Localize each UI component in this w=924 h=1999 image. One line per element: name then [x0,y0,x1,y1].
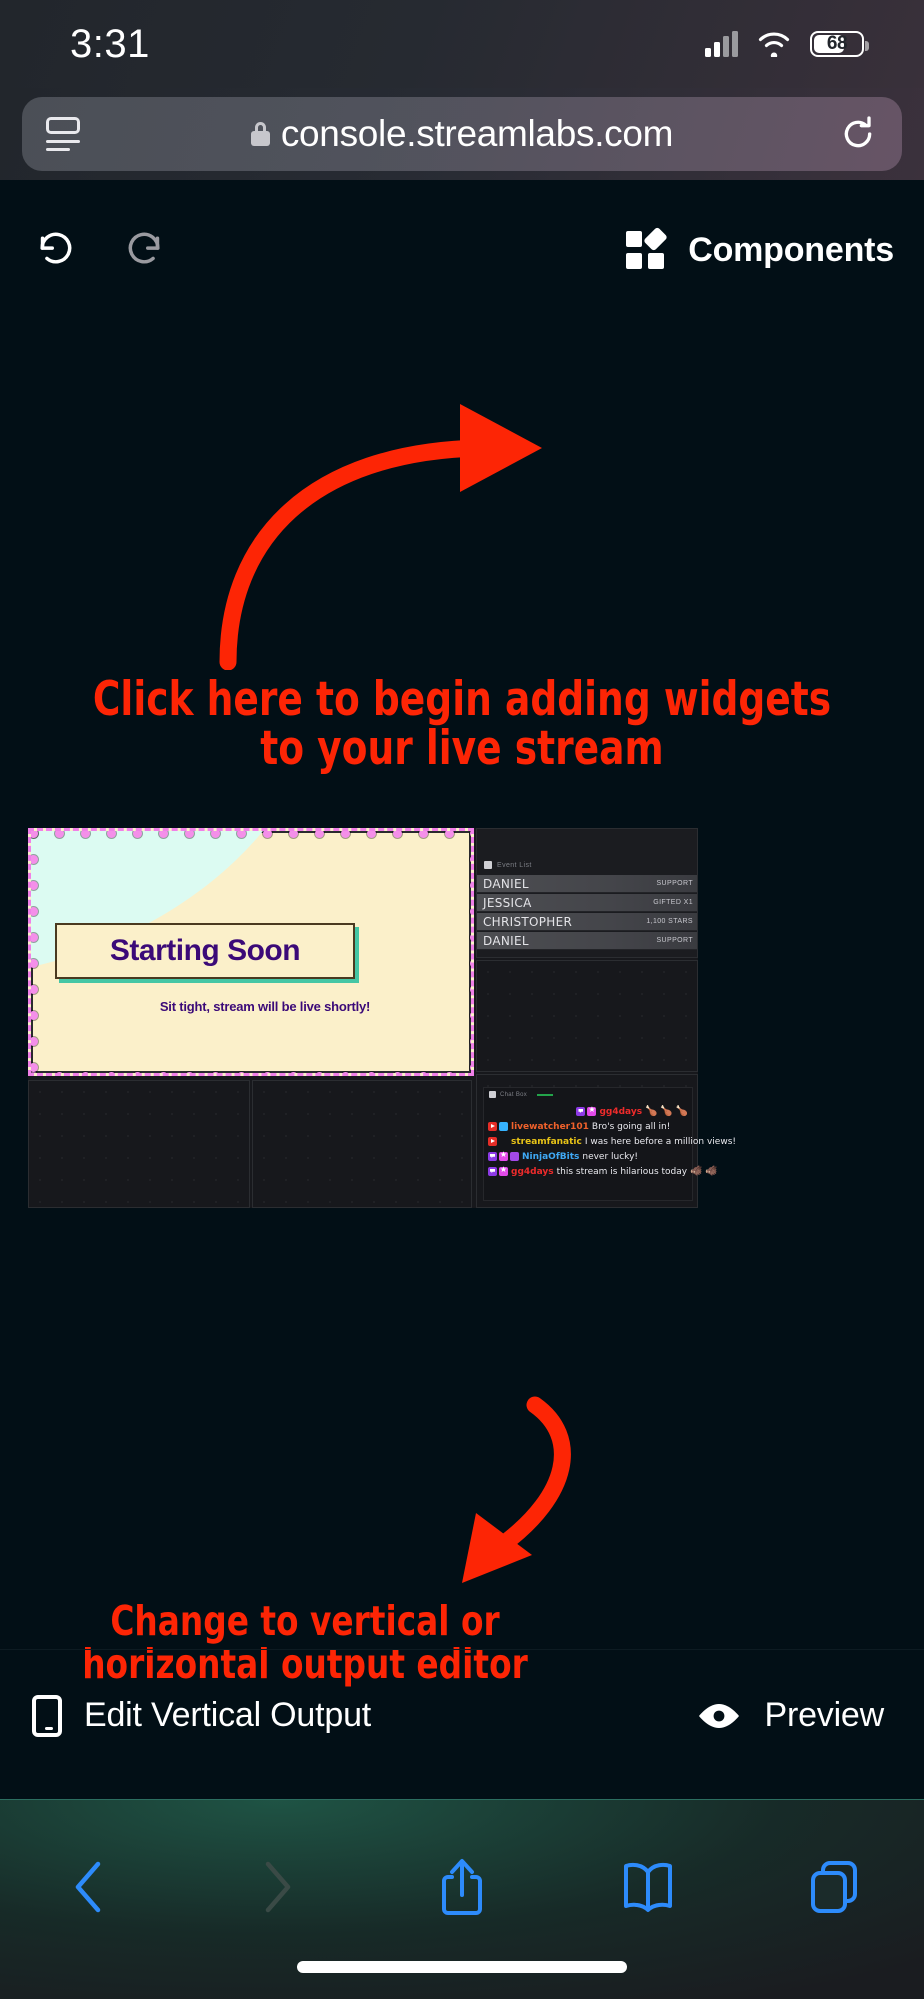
selection-handle[interactable] [237,1072,246,1076]
selection-handle[interactable] [29,1011,38,1020]
chat-username: gg4days [599,1107,642,1117]
selection-handle[interactable] [419,829,428,838]
chat-message-text: I was here before a million views! [585,1137,736,1147]
selection-handle[interactable] [470,1037,474,1046]
url-display[interactable]: console.streamlabs.com [86,113,838,155]
selection-handle[interactable] [81,1072,90,1076]
cellular-signal-icon [705,31,738,57]
event-list-caption: Event List [497,862,532,869]
selection-handle[interactable] [471,829,474,838]
undo-icon[interactable] [32,227,78,273]
selection-handle[interactable] [29,1063,38,1072]
edit-vertical-output-button[interactable]: Edit Vertical Output [32,1695,371,1737]
redo-icon[interactable] [122,227,168,273]
selection-handle[interactable] [263,829,272,838]
chat-badges [488,1122,508,1131]
selection-handle[interactable] [185,1072,194,1076]
bookmarks-icon[interactable] [616,1855,680,1919]
selection-handle[interactable] [470,907,474,916]
event-list-header: Event List [484,861,532,869]
chat-accent-line [537,1094,553,1096]
chat-badge-star [499,1152,508,1161]
chat-badge-twitch [488,1167,497,1176]
selection-handle[interactable] [419,1072,428,1076]
selection-handle[interactable] [367,1072,376,1076]
empty-scene-tile-left[interactable] [28,1080,250,1208]
streamlabs-editor-app: Components Click here to begin adding wi… [0,180,924,1799]
chat-badge-twitch [576,1107,585,1116]
selection-handle[interactable] [341,1072,350,1076]
history-buttons [32,227,168,273]
chat-username: livewatcher101 [511,1122,589,1132]
address-bar[interactable]: console.streamlabs.com [22,97,902,171]
empty-scene-tile-right[interactable] [476,960,698,1072]
chat-badge-youtube [488,1137,497,1146]
forward-chevron-icon [244,1855,308,1919]
chat-message-text: this stream is hilarious today [557,1167,688,1177]
chat-badge-youtube [488,1122,497,1131]
selection-handle[interactable] [133,1072,142,1076]
eye-icon [696,1701,742,1731]
chat-emotes: 🐗 🐗 [690,1166,718,1177]
chat-message: livewatcher101Bro's going all in! [488,1119,688,1134]
chat-box-caption: Chat Box [500,1092,527,1098]
editor-toolbar: Components [0,210,924,290]
event-list-widget[interactable]: Event List DANIELSUPPORTJESSICAGIFTED X1… [476,828,698,958]
status-bar-indicators: 68 [705,31,864,57]
event-list-row: CHRISTOPHER1,100 STARS [477,913,698,931]
event-list-row-name: DANIEL [483,877,529,891]
components-grid-icon [626,231,666,269]
share-icon[interactable] [430,1855,494,1919]
selection-handle[interactable] [470,855,474,864]
status-bar-clock: 3:31 [70,22,150,67]
event-list-row: JESSICAGIFTED X1 [477,894,698,912]
battery-level: 68 [812,33,862,55]
selection-handle[interactable] [341,829,350,838]
starting-soon-title: Starting Soon [110,934,300,968]
safari-bottom-toolbar [0,1799,924,1999]
battery-icon: 68 [810,31,864,57]
chat-username: NinjaOfBits [522,1152,579,1162]
selection-handle[interactable] [211,1072,220,1076]
ios-status-bar: 3:31 68 [0,0,924,88]
selection-handle[interactable] [470,959,474,968]
event-list-row-value: 1,100 STARS [646,918,693,925]
chat-box-widget[interactable]: Chat Box gg4days🍗 🍗 🍗livewatcher101Bro's… [476,1074,698,1208]
home-indicator [297,1961,627,1973]
event-list-row-name: JESSICA [483,896,532,910]
chat-message-text: never lucky! [582,1152,638,1162]
chat-box-header: Chat Box [489,1091,553,1098]
selection-handle[interactable] [55,1072,64,1076]
selection-handle[interactable] [470,1063,474,1072]
phone-icon [32,1695,62,1737]
selection-handle[interactable] [393,1072,402,1076]
event-list-row: DANIELSUPPORT [477,932,698,950]
components-button[interactable]: Components [626,231,894,270]
widget-icon [484,861,492,869]
starting-soon-box: Starting Soon [55,923,355,979]
url-text: console.streamlabs.com [281,113,673,155]
safari-top-toolbar: console.streamlabs.com [0,88,924,180]
selection-handle[interactable] [445,1072,454,1076]
chat-message: NinjaOfBitsnever lucky! [488,1149,688,1164]
chat-badges [488,1137,508,1146]
chat-message-text: Bro's going all in! [592,1122,670,1132]
selection-handle[interactable] [470,881,474,890]
selection-handle[interactable] [315,829,324,838]
chat-message: streamfanaticI was here before a million… [488,1134,688,1149]
lock-icon [251,122,270,146]
chat-badges [488,1152,519,1161]
selection-handle[interactable] [107,1072,116,1076]
selection-handle[interactable] [367,829,376,838]
chat-message: gg4daysthis stream is hilarious today🐗 🐗 [488,1164,688,1179]
arrow-to-edit-vertical-output [440,1395,620,1595]
selection-handle[interactable] [29,1072,38,1076]
selection-handle[interactable] [471,1072,474,1076]
widget-icon [489,1091,496,1098]
selection-handle[interactable] [29,985,38,994]
selection-handle[interactable] [470,829,474,838]
chat-box-inner: Chat Box gg4days🍗 🍗 🍗livewatcher101Bro's… [483,1087,693,1201]
selection-handle[interactable] [470,985,474,994]
chat-badge-wrench [499,1137,508,1146]
arrow-to-components [150,390,630,670]
selection-handle[interactable] [315,1072,324,1076]
chat-badge-twitch [488,1152,497,1161]
empty-scene-tile-middle[interactable] [252,1080,472,1208]
chat-badges [488,1167,508,1176]
chat-badge-star [587,1107,596,1116]
reload-icon[interactable] [838,114,878,154]
selection-handle[interactable] [159,1072,168,1076]
starting-soon-subtitle: Sit tight, stream will be live shortly! [55,999,474,1014]
scene-starting-soon[interactable]: Starting Soon Sit tight, stream will be … [28,828,474,1076]
selection-handle[interactable] [470,933,474,942]
reader-view-icon[interactable] [46,117,86,151]
editor-bottom-bar: Edit Vertical Output Preview [0,1649,924,1799]
annotation-top: Click here to begin adding widgets to yo… [92,676,831,774]
edit-vertical-output-label: Edit Vertical Output [84,1696,371,1735]
selection-handle[interactable] [289,829,298,838]
chat-badge-star [499,1167,508,1176]
event-list-row-name: DANIEL [483,934,529,948]
chat-username: gg4days [511,1167,554,1177]
back-chevron-icon[interactable] [58,1855,122,1919]
canvas-preview[interactable]: Starting Soon Sit tight, stream will be … [28,828,698,1208]
event-list-row-value: GIFTED X1 [653,899,693,906]
selection-handle[interactable] [29,1037,38,1046]
chat-badge-mc [510,1152,519,1161]
selection-handle[interactable] [393,829,402,838]
event-list-row: DANIELSUPPORT [477,875,698,893]
chat-messages: gg4days🍗 🍗 🍗livewatcher101Bro's going al… [488,1104,688,1179]
preview-label: Preview [764,1696,884,1735]
event-list-row-value: SUPPORT [656,880,693,887]
event-list-row-name: CHRISTOPHER [483,915,572,929]
chat-emotes: 🍗 🍗 🍗 [645,1106,688,1117]
selection-handle[interactable] [263,1072,272,1076]
wifi-icon [756,31,792,57]
chat-badges [576,1107,596,1116]
preview-button[interactable]: Preview [696,1696,884,1735]
event-list-row-value: SUPPORT [656,937,693,944]
selection-handle[interactable] [445,829,454,838]
selection-handle[interactable] [289,1072,298,1076]
components-label: Components [688,231,894,270]
chat-message: gg4days🍗 🍗 🍗 [488,1104,688,1119]
chat-badge-mod [499,1122,508,1131]
chat-username: streamfanatic [511,1137,582,1147]
tabs-icon[interactable] [802,1855,866,1919]
